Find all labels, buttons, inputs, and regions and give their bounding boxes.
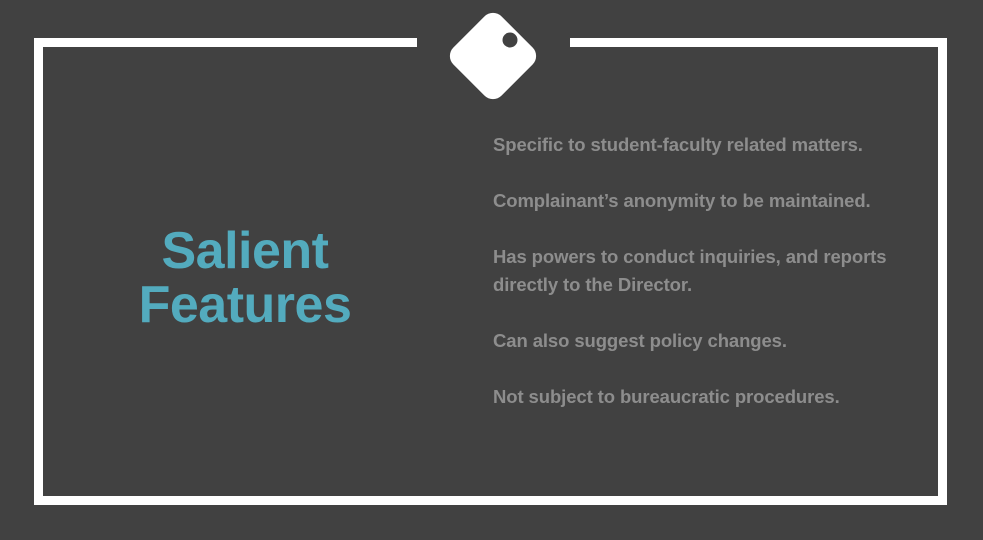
frame-border-top-right bbox=[570, 38, 947, 47]
frame-border-top-left bbox=[34, 38, 417, 47]
features-list: Specific to student-faculty related matt… bbox=[493, 131, 923, 411]
page-title-line-1: Salient bbox=[30, 224, 460, 278]
frame-border-bottom bbox=[34, 496, 947, 505]
list-item: Not subject to bureaucratic procedures. bbox=[493, 383, 923, 411]
list-item: Can also suggest policy changes. bbox=[493, 327, 923, 355]
list-item: Complainant’s anonymity to be maintained… bbox=[493, 187, 923, 215]
frame-border-right bbox=[938, 38, 947, 505]
page-title-line-2: Features bbox=[30, 278, 460, 332]
list-item: Has powers to conduct inquiries, and rep… bbox=[493, 243, 923, 299]
slide-canvas: Salient Features Specific to student-fac… bbox=[0, 0, 983, 540]
tag-icon bbox=[443, 4, 543, 108]
list-item: Specific to student-faculty related matt… bbox=[493, 131, 923, 159]
page-title: Salient Features bbox=[30, 224, 460, 332]
